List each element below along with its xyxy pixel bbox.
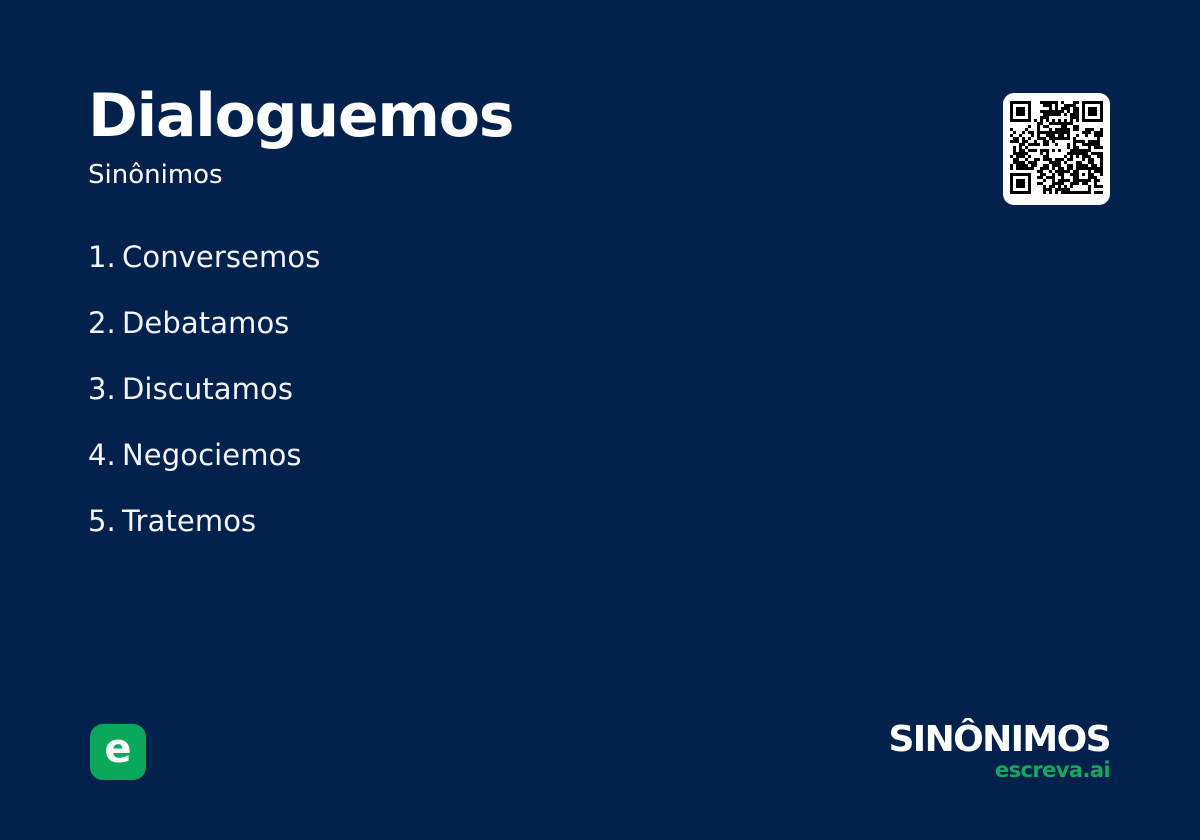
list-item: 1.Conversemos — [88, 238, 908, 304]
escreva-e-logo-icon[interactable]: e — [90, 724, 146, 780]
brand-badge-letter: e — [104, 729, 131, 769]
qr-code-card[interactable] — [1003, 93, 1110, 205]
list-item-index: 5. — [88, 502, 122, 540]
list-item-word: Tratemos — [122, 502, 256, 540]
list-item-word: Conversemos — [122, 238, 320, 276]
sinonimos-logo-wordmark: SINÔNIMOS — [888, 722, 1110, 758]
sinonimos-logo[interactable]: SINÔNIMOS escreva.ai — [888, 722, 1110, 781]
list-item-index: 2. — [88, 304, 122, 342]
page-title: Dialoguemos — [88, 86, 848, 146]
synonym-list: 1.Conversemos 2.Debatamos 3.Discutamos 4… — [88, 238, 908, 568]
list-item: 4.Negociemos — [88, 436, 908, 502]
list-item-word: Discutamos — [122, 370, 293, 408]
list-item: 2.Debatamos — [88, 304, 908, 370]
escreva-ai-logo-sub: escreva.ai — [888, 760, 1110, 781]
headline-block: Dialoguemos Sinônimos — [88, 86, 848, 188]
list-item: 5.Tratemos — [88, 502, 908, 568]
qr-code-icon[interactable] — [1010, 101, 1103, 197]
list-item: 3.Discutamos — [88, 370, 908, 436]
list-item-index: 1. — [88, 238, 122, 276]
list-item-word: Negociemos — [122, 436, 302, 474]
page-subtitle: Sinônimos — [88, 146, 848, 188]
list-item-index: 4. — [88, 436, 122, 474]
synonym-card: Dialoguemos Sinônimos 1.Conversemos 2.De… — [0, 0, 1200, 840]
list-item-word: Debatamos — [122, 304, 290, 342]
list-item-index: 3. — [88, 370, 122, 408]
